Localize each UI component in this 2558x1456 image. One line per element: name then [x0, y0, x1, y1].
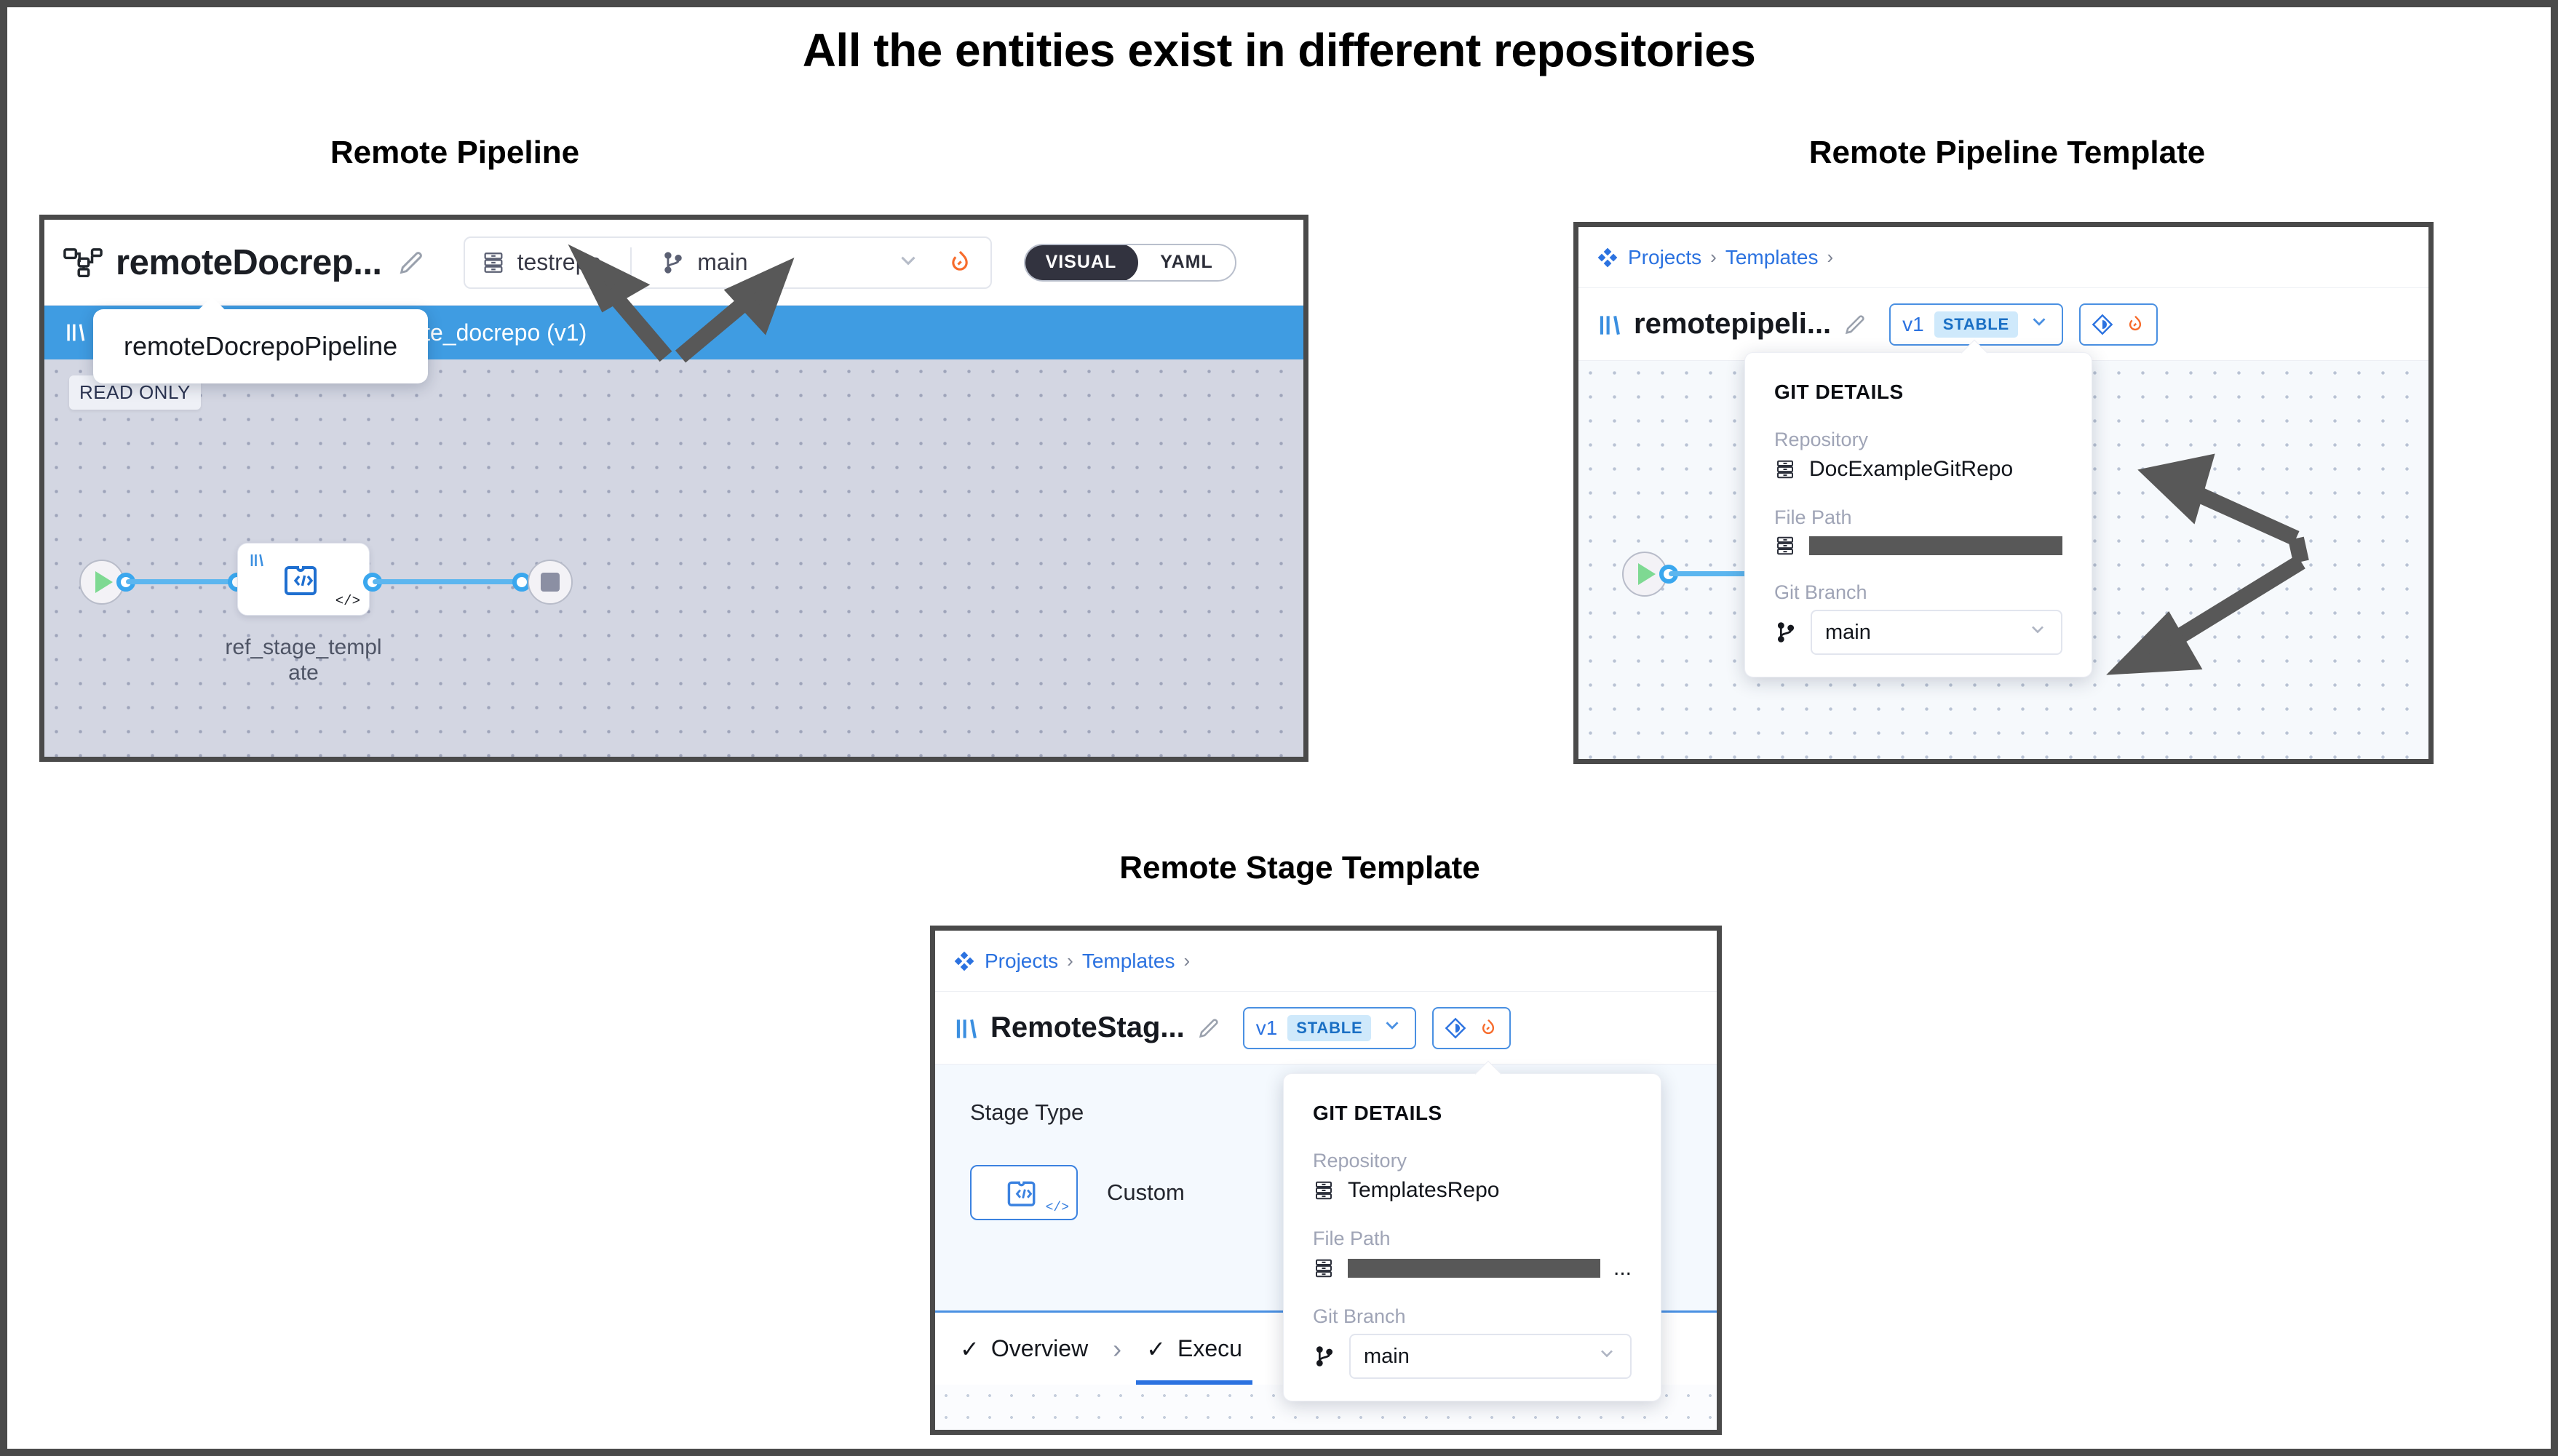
page-title: All the entities exist in different repo…: [7, 23, 2551, 77]
section-title-remote-stage-template: Remote Stage Template: [1119, 850, 1480, 886]
repository-label: Repository: [1774, 429, 2062, 451]
branch-cell[interactable]: main: [661, 249, 747, 276]
repository-value: DocExampleGitRepo: [1809, 457, 2013, 482]
repository-row: DocExampleGitRepo: [1774, 457, 2062, 482]
stop-icon: [541, 573, 560, 592]
version-label: v1: [1256, 1017, 1278, 1040]
chevron-down-icon[interactable]: [1597, 1343, 1617, 1369]
check-icon: ✓: [960, 1335, 980, 1363]
chevron-down-icon[interactable]: [2028, 311, 2050, 338]
git-diamond-icon: [2091, 313, 2114, 336]
git-branch-icon: [1313, 1345, 1336, 1368]
custom-stage-icon: [1006, 1175, 1041, 1210]
code-glyph-icon: </>: [335, 593, 360, 609]
banner-text-suffix: late_docrepo (v1): [405, 319, 587, 346]
pencil-icon[interactable]: [397, 248, 426, 277]
repo-branch-selector[interactable]: testrepo main: [464, 236, 992, 289]
branch-name: main: [697, 249, 747, 276]
version-selector[interactable]: v1 STABLE: [1243, 1007, 1417, 1049]
breadcrumb-item-templates[interactable]: Templates: [1082, 950, 1175, 973]
flame-icon: [1477, 1017, 1499, 1039]
breadcrumb-separator: ›: [1710, 246, 1717, 268]
breadcrumb-item-projects[interactable]: Projects: [1628, 246, 1701, 269]
tooltip-text: remoteDocrepoPipeline: [124, 331, 397, 361]
edge-start-to-stage: [126, 579, 234, 584]
tab-visual[interactable]: VISUAL: [1024, 244, 1139, 282]
file-path-row: ...: [1313, 1256, 1632, 1281]
file-path-row: [1774, 535, 2062, 557]
slide-canvas: All the entities exist in different repo…: [0, 0, 2558, 1456]
repository-icon: [1774, 458, 1796, 480]
repository-label: Repository: [1313, 1150, 1632, 1172]
git-details-button[interactable]: [2079, 303, 2158, 346]
end-node[interactable]: [528, 560, 573, 605]
repository-icon: [1313, 1179, 1335, 1201]
template-toolbar: RemoteStag... v1 STABLE: [935, 992, 1717, 1065]
tab-overview-label: Overview: [991, 1335, 1088, 1362]
tab-execution-label: Execu: [1177, 1335, 1242, 1362]
breadcrumb-separator-2: ›: [1183, 950, 1190, 972]
custom-stage-card[interactable]: </>: [970, 1165, 1078, 1220]
breadcrumb-separator: ›: [1067, 950, 1073, 972]
git-branch-select[interactable]: main: [1349, 1334, 1632, 1379]
chevron-down-icon[interactable]: [896, 248, 921, 277]
check-icon: ✓: [1146, 1335, 1166, 1363]
remote-pipeline-template-panel: Projects › Templates › remotepipeli... v…: [1573, 222, 2434, 764]
pipeline-toolbar: remoteDocrep... testre: [44, 220, 1303, 306]
template-bars-icon: [248, 552, 266, 569]
version-selector[interactable]: v1 STABLE: [1889, 303, 2063, 346]
repository-icon: [481, 250, 506, 275]
pencil-icon[interactable]: [1843, 312, 1867, 337]
git-details-button[interactable]: [1432, 1007, 1511, 1049]
git-branch-value: main: [1364, 1345, 1410, 1369]
pencil-icon[interactable]: [1196, 1016, 1221, 1041]
repo-name: testrepo: [517, 249, 602, 276]
tab-execution[interactable]: ✓ Execu: [1146, 1313, 1242, 1385]
repository-value: TemplatesRepo: [1348, 1178, 1499, 1203]
flame-icon: [2124, 314, 2146, 335]
file-path-label: File Path: [1774, 506, 2062, 529]
pipeline-icon: [63, 247, 103, 279]
file-path-value-redacted: [1348, 1259, 1600, 1278]
repository-row: TemplatesRepo: [1313, 1178, 1632, 1203]
git-branch-label: Git Branch: [1774, 581, 2062, 604]
chevron-down-icon[interactable]: [2027, 619, 2048, 645]
chevron-down-icon[interactable]: [1381, 1014, 1403, 1041]
template-bars-icon: [1596, 311, 1624, 338]
projects-icon: [953, 950, 976, 973]
code-glyph-icon: </>: [1046, 1201, 1069, 1215]
play-icon: [95, 571, 113, 593]
git-details-popover: GIT DETAILS Repository TemplatesRepo Fil…: [1283, 1073, 1661, 1401]
git-branch-value: main: [1825, 621, 1871, 645]
pipeline-name-tooltip: remoteDocrepoPipeline: [93, 309, 428, 383]
projects-icon: [1596, 246, 1619, 269]
stage-node-label: ref_stage_template: [209, 634, 398, 686]
chevron-right-icon: ›: [1113, 1334, 1121, 1364]
git-diamond-icon: [1444, 1017, 1467, 1040]
remote-stage-template-panel: Projects › Templates › RemoteStag... v1 …: [930, 926, 1722, 1435]
template-bars-icon: [953, 1015, 980, 1041]
section-title-remote-pipeline: Remote Pipeline: [330, 135, 579, 171]
pipeline-flow: </> ref_stage_template: [44, 359, 1303, 762]
breadcrumb-item-templates[interactable]: Templates: [1725, 246, 1819, 269]
git-branch-select[interactable]: main: [1811, 610, 2062, 655]
git-branch-icon: [1774, 621, 1798, 644]
section-title-remote-pipeline-template: Remote Pipeline Template: [1809, 135, 2205, 171]
git-branch-label: Git Branch: [1313, 1305, 1632, 1328]
custom-stage-icon: [283, 559, 324, 600]
template-name: remotepipeli...: [1634, 308, 1831, 341]
repository-icon: [1313, 1257, 1335, 1279]
pipeline-name: remoteDocrep...: [116, 242, 382, 283]
stage-type-value: Custom: [1107, 1179, 1185, 1206]
pipeline-canvas[interactable]: READ ONLY </>: [44, 359, 1303, 762]
template-toolbar: remotepipeli... v1 STABLE: [1578, 288, 2428, 361]
template-bars-icon: [63, 320, 88, 345]
chip-divider: [630, 247, 632, 278]
file-path-label: File Path: [1313, 1228, 1632, 1250]
edge-stage-to-end: [373, 579, 518, 584]
stage-node-ref-stage-template[interactable]: </>: [237, 543, 370, 616]
version-label: v1: [1902, 313, 1924, 336]
repository-icon: [1774, 535, 1796, 557]
git-details-title: GIT DETAILS: [1774, 381, 2062, 404]
remote-pipeline-panel: remoteDocrep... testre: [39, 215, 1308, 762]
git-details-title: GIT DETAILS: [1313, 1102, 1632, 1125]
breadcrumb: Projects › Templates ›: [935, 931, 1717, 992]
flame-icon[interactable]: [945, 248, 974, 277]
git-details-popover: GIT DETAILS Repository DocExampleGitRepo…: [1744, 352, 2092, 677]
play-icon: [1638, 563, 1656, 585]
file-path-ellipsis: ...: [1613, 1256, 1632, 1281]
file-path-value-redacted: [1809, 536, 2062, 555]
breadcrumb-separator-2: ›: [1827, 246, 1833, 268]
git-branch-icon: [661, 250, 686, 275]
git-branch-row: main: [1774, 610, 2062, 655]
tab-yaml[interactable]: YAML: [1138, 245, 1235, 280]
tab-overview[interactable]: ✓ Overview: [960, 1313, 1088, 1385]
breadcrumb-item-projects[interactable]: Projects: [985, 950, 1058, 973]
status-badge: STABLE: [1287, 1015, 1371, 1041]
status-badge: STABLE: [1934, 311, 2018, 338]
breadcrumb: Projects › Templates ›: [1578, 227, 2428, 288]
view-mode-toggle[interactable]: VISUAL YAML: [1024, 244, 1236, 282]
template-name: RemoteStag...: [990, 1011, 1185, 1044]
git-branch-row: main: [1313, 1334, 1632, 1379]
repo-cell[interactable]: testrepo: [481, 249, 602, 276]
